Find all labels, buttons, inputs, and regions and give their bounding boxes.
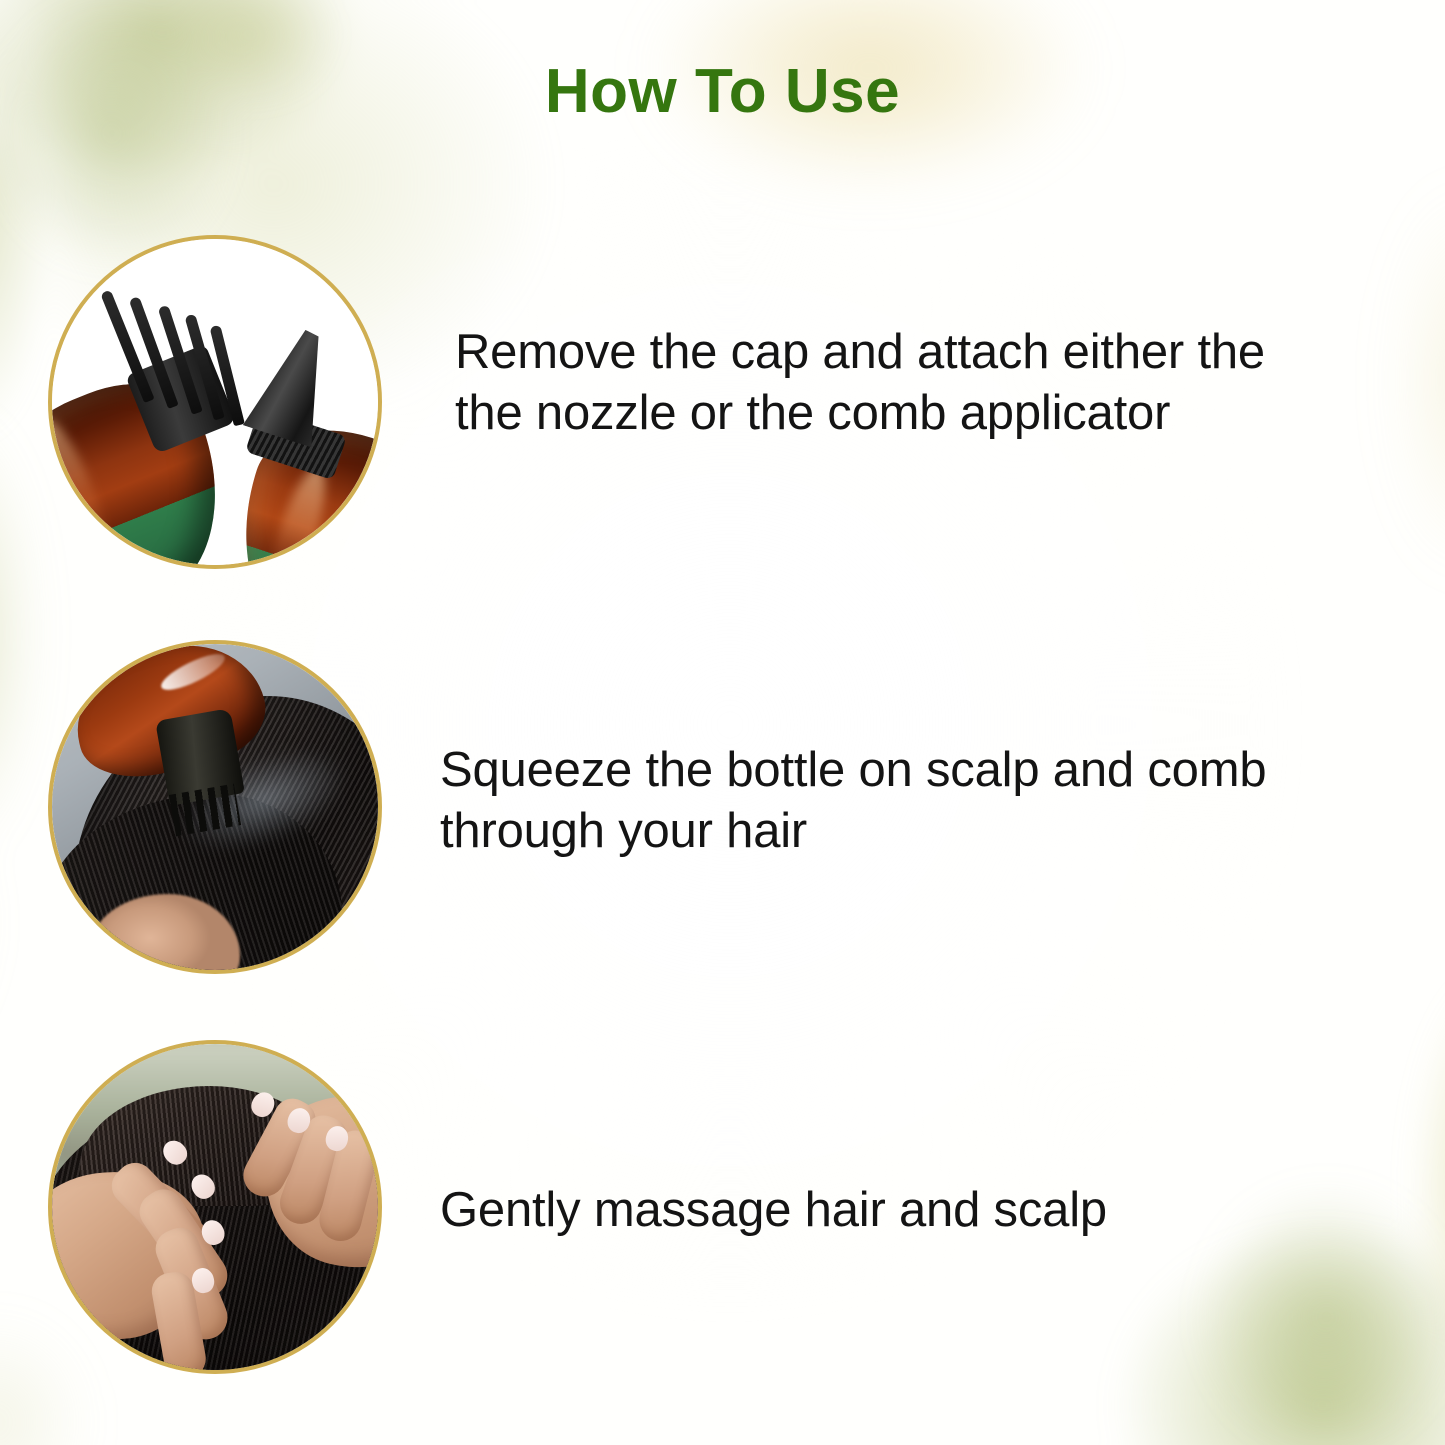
- step-1-caption: Remove the cap and attach either the the…: [455, 322, 1335, 444]
- step-3-caption: Gently massage hair and scalp: [440, 1180, 1340, 1241]
- step-2-caption: Squeeze the bottle on scalp and comb thr…: [440, 740, 1340, 862]
- background-wash-bottom-right: [755, 875, 1445, 1445]
- step-3-image-circle: [48, 1040, 382, 1374]
- how-to-use-infographic: How To Use Remove the cap and attac: [0, 0, 1445, 1445]
- hands-massaging-scalp-image: [52, 1044, 378, 1370]
- step-1-image-circle: [48, 235, 382, 569]
- bottle-comb-and-nozzle-applicators-image: [52, 239, 378, 565]
- pointed-nozzle-tip: [243, 321, 345, 448]
- page-title: How To Use: [0, 56, 1445, 127]
- step-2-image-circle: [48, 640, 382, 974]
- applying-oil-to-scalp-parting-image: [52, 644, 378, 970]
